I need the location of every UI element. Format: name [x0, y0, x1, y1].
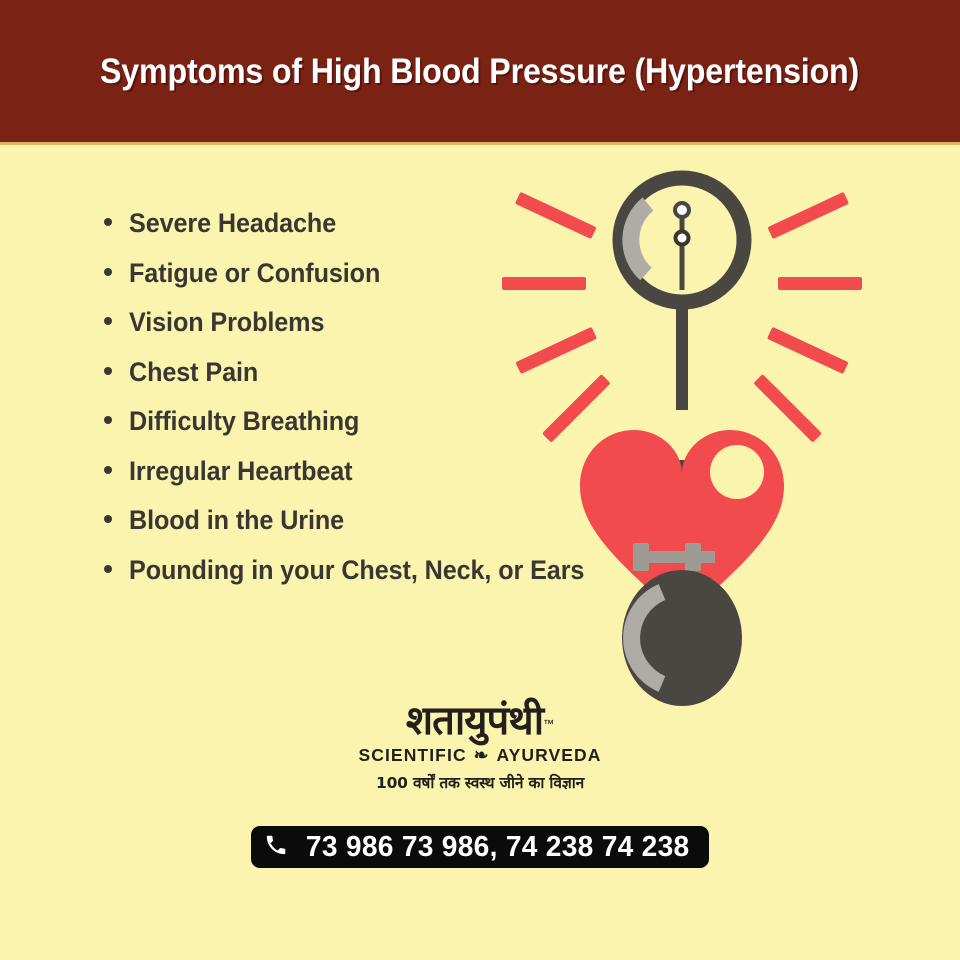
- symptom-label: Chest Pain: [129, 357, 258, 388]
- heart-rays-left: [502, 192, 611, 443]
- bullet-icon: [104, 218, 112, 226]
- brand-subtitle-row: SCIENTIFIC ❧ AYURVEDA: [0, 745, 960, 766]
- contact-phone-bar[interactable]: 73 986 73 986, 74 238 74 238: [251, 826, 709, 868]
- heart-highlight-icon: [710, 445, 764, 499]
- brand-tagline: 100 वर्षों तक स्वस्थ जीने का विज्ञान: [0, 771, 960, 793]
- brand-subtitle-ayurveda: AYURVEDA: [496, 745, 601, 766]
- page-title: Symptoms of High Blood Pressure (Hyperte…: [100, 54, 859, 89]
- bullet-icon: [104, 515, 112, 523]
- symptom-label: Irregular Heartbeat: [129, 456, 352, 487]
- brand-name-row: शतायुपंथी™: [0, 700, 960, 742]
- heart-rays-right: [753, 192, 862, 443]
- bullet-icon: [104, 466, 112, 474]
- header-underline-divider: [0, 142, 960, 145]
- gauge-needle-tip-dot: [675, 203, 689, 217]
- tube-upper: [676, 300, 688, 410]
- sphygmomanometer-illustration: [500, 160, 880, 710]
- trademark-symbol: ™: [543, 719, 554, 731]
- symptom-label: Blood in the Urine: [129, 505, 344, 536]
- bullet-icon: [104, 317, 112, 325]
- bullet-icon: [104, 268, 112, 276]
- leaf-icon: ❧: [474, 745, 490, 766]
- brand-name: शतायुपंथी: [406, 698, 543, 744]
- phone-handset-icon: [265, 834, 287, 861]
- phone-number: 73 986 73 986, 74 238 74 238: [306, 831, 690, 864]
- brand-subtitle-scientific: SCIENTIFIC: [358, 745, 466, 766]
- brand-logo: शतायुपंथी™ SCIENTIFIC ❧ AYURVEDA 100 वर्…: [0, 700, 960, 793]
- bullet-icon: [104, 416, 112, 424]
- symptom-label: Fatigue or Confusion: [129, 258, 380, 289]
- symptom-label: Severe Headache: [129, 208, 336, 239]
- symptom-label: Difficulty Breathing: [129, 406, 359, 437]
- bullet-icon: [104, 565, 112, 573]
- header-banner: Symptoms of High Blood Pressure (Hyperte…: [0, 0, 960, 142]
- gauge-hub: [676, 232, 689, 245]
- symptom-label: Vision Problems: [129, 307, 324, 338]
- bullet-icon: [104, 367, 112, 375]
- gauge-scale-arc: [631, 204, 648, 274]
